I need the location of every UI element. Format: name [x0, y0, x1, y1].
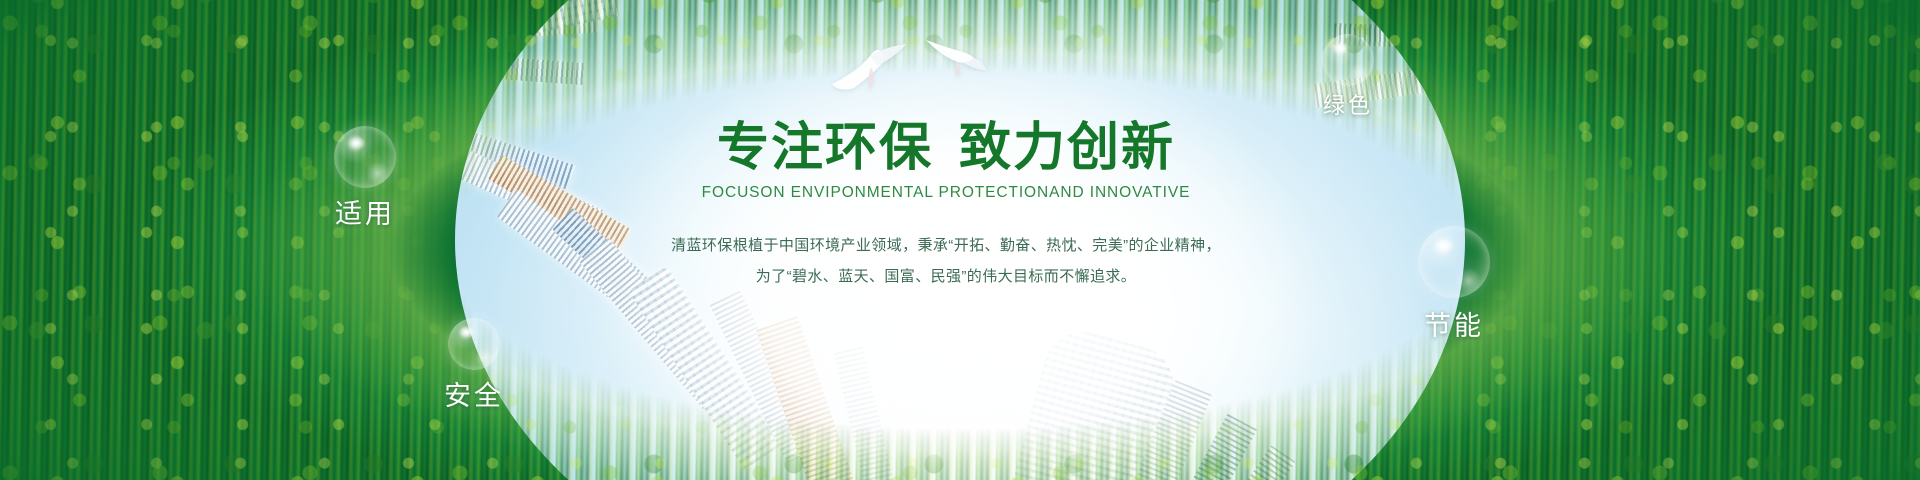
page-title: 专注环保致力创新 — [586, 122, 1306, 175]
bubble-icon — [334, 126, 396, 188]
hero-description: 清蓝环保根植于中国环境产业领域，秉承“开拓、勤奋、热忱、完美”的企业精神， 为了… — [586, 231, 1306, 293]
flying-bird-icon — [920, 30, 988, 78]
flying-bird-icon — [828, 38, 912, 92]
bubble-label: 节能 — [1424, 304, 1484, 343]
bubble-icon — [448, 318, 500, 370]
bubble-label: 安全 — [444, 374, 504, 413]
page-subtitle: FOCUSON ENVIPONMENTAL PROTECTIONAND INNO… — [586, 184, 1306, 202]
description-line-1: 清蓝环保根植于中国环境产业领域，秉承“开拓、勤奋、热忱、完美”的企业精神， — [586, 231, 1306, 262]
description-line-2: 为了“碧水、蓝天、国富、民强”的伟大目标而不懈追求。 — [586, 262, 1306, 293]
bubble-icon — [1322, 34, 1374, 86]
hero-copy: 专注环保致力创新 FOCUSON ENVIPONMENTAL PROTECTIO… — [586, 122, 1306, 293]
headline-part-2: 致力创新 — [959, 118, 1175, 178]
bubble-label: 适用 — [335, 192, 395, 231]
bubble-label: 绿色 — [1323, 88, 1373, 120]
bubble-icon — [1418, 226, 1490, 298]
eco-hero-banner: 适用 安全 绿色 节能 专注环保致力创新 FOCUSON ENVIPONMENT… — [0, 0, 1920, 480]
headline-part-1: 专注环保 — [717, 118, 933, 178]
